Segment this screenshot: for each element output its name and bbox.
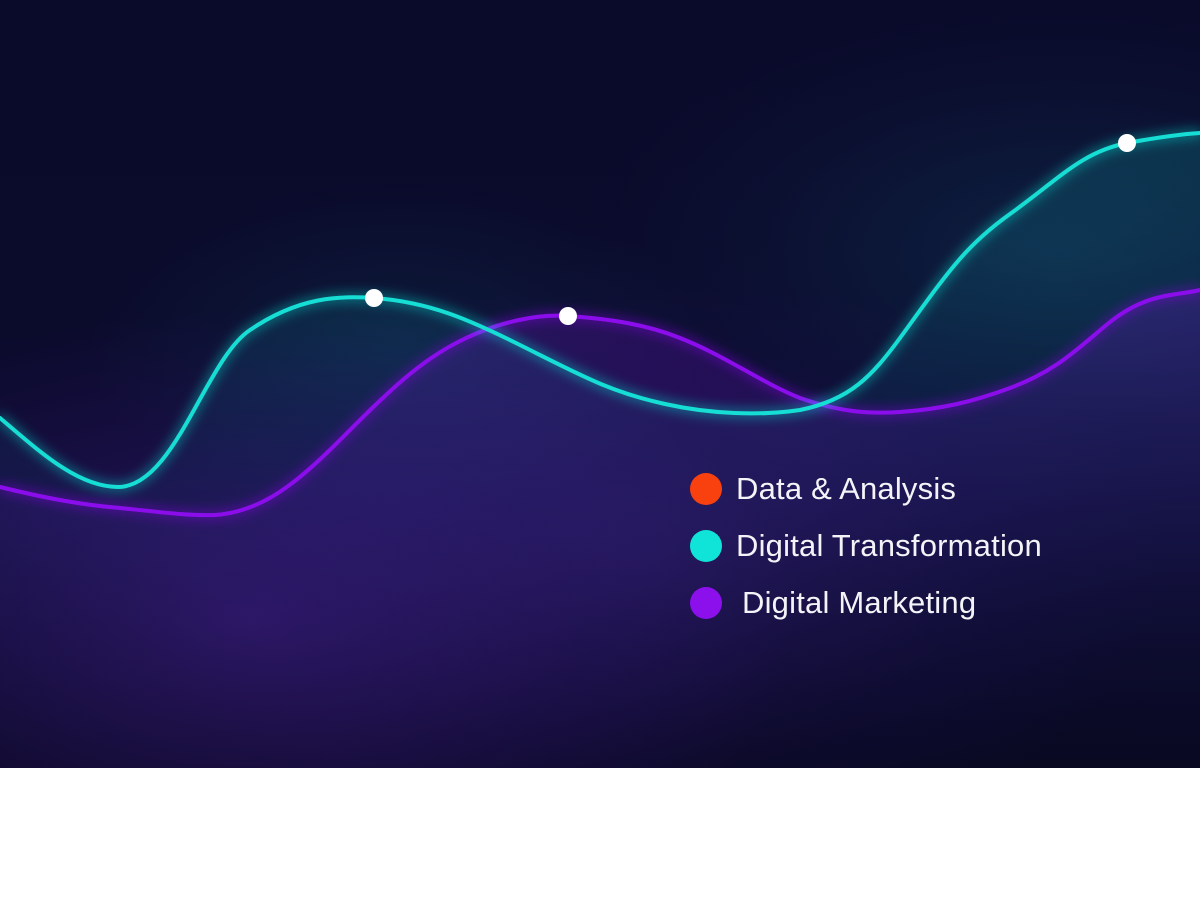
legend-item-digital-transformation[interactable]: Digital Transformation xyxy=(690,517,1130,574)
legend-item-label: Digital Marketing xyxy=(742,586,976,620)
data-point-marker[interactable] xyxy=(365,289,383,307)
legend-item-data-analysis[interactable]: Data & Analysis xyxy=(690,460,1130,517)
data-point-marker[interactable] xyxy=(559,307,577,325)
legend-dot-icon xyxy=(690,530,722,562)
legend-item-digital-marketing[interactable]: Digital Marketing xyxy=(690,574,1130,631)
legend-dot-icon xyxy=(690,587,722,619)
chart-legend: Data & Analysis Digital Transformation D… xyxy=(690,460,1130,631)
legend-item-label: Digital Transformation xyxy=(736,529,1042,563)
data-point-marker[interactable] xyxy=(1118,134,1136,152)
chart-stage: Data & Analysis Digital Transformation D… xyxy=(0,0,1200,900)
wave-chart-svg xyxy=(0,0,1200,768)
bottom-white-band xyxy=(0,768,1200,900)
legend-item-label: Data & Analysis xyxy=(736,472,956,506)
legend-dot-icon xyxy=(690,473,722,505)
chart-panel: Data & Analysis Digital Transformation D… xyxy=(0,0,1200,768)
